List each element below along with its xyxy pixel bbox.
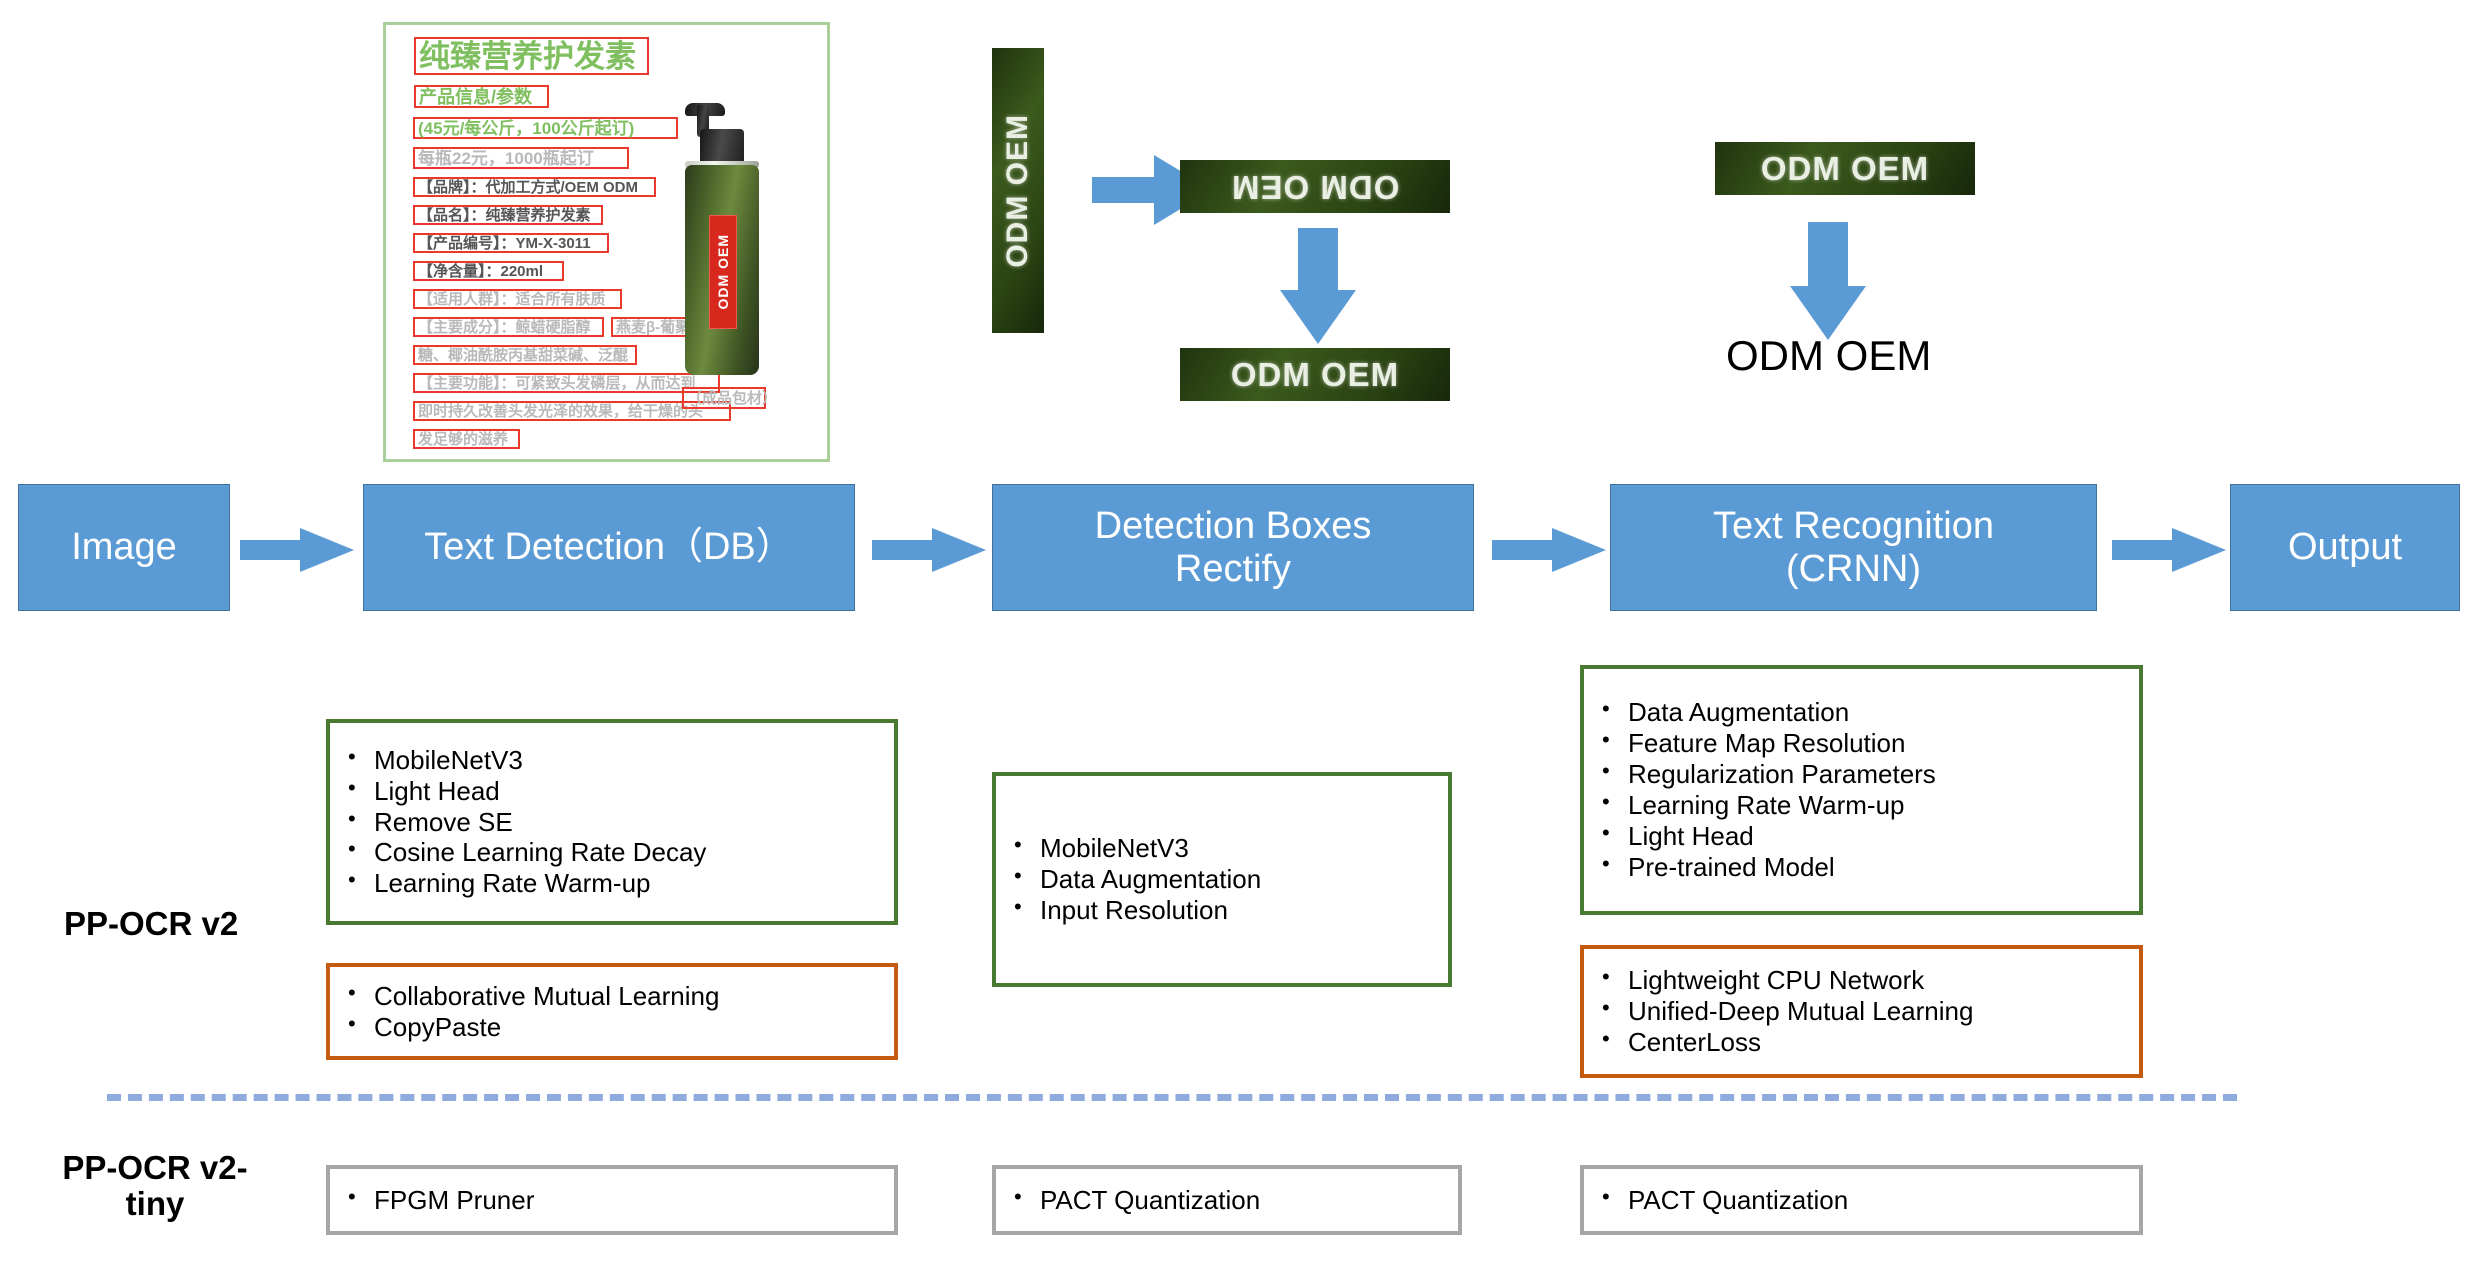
pipeline-stage-image-label: Image (71, 526, 177, 569)
ocr-detected-line: (45元/每公斤，100公斤起订) (413, 117, 678, 139)
ocr-detection-sample-panel: 纯臻营养护发素产品信息/参数(45元/每公斤，100公斤起订)每瓶22元，100… (383, 22, 830, 462)
ocr-detected-line: 糖、椰油酰胺丙基甜菜碱、泛醌 (413, 345, 637, 365)
feature-list-item: Collaborative Mutual Learning (344, 981, 894, 1012)
feature-list-item: Light Head (1598, 821, 2139, 852)
feature-list-item: Regularization Parameters (1598, 759, 2139, 790)
feature-list-detection-orange: Collaborative Mutual LearningCopyPaste (330, 981, 894, 1043)
feature-box-tiny-detection: FPGM Pruner (326, 1165, 898, 1235)
bottle-label-text: ODM OEM (715, 234, 731, 309)
feature-box-tiny-rectify: PACT Quantization (992, 1165, 1462, 1235)
feature-list-item: PACT Quantization (1598, 1185, 2139, 1216)
ocr-detected-line: 【主要成分】：鲸蜡硬脂醇 (413, 317, 604, 337)
pipeline-stage-text-recognition[interactable]: Text Recognition (CRNN) (1610, 484, 2097, 611)
rectify-source-text: ODM OEM (1001, 114, 1035, 268)
feature-list-item: MobileNetV3 (1010, 833, 1448, 864)
feature-list-detection-green: MobileNetV3Light HeadRemove SECosine Lea… (330, 745, 894, 900)
pipeline-stage-detection-boxes-rectify[interactable]: Detection Boxes Rectify (992, 484, 1474, 611)
ocr-detected-line: 每瓶22元，1000瓶起订 (413, 147, 629, 169)
feature-list-tiny-detection: FPGM Pruner (330, 1185, 894, 1216)
feature-box-detection-green: MobileNetV3Light HeadRemove SECosine Lea… (326, 719, 898, 925)
ocr-detected-line: 【适用人群】：适合所有肤质 (413, 289, 622, 309)
feature-list-item: Learning Rate Warm-up (344, 868, 894, 899)
feature-list-item: PACT Quantization (1010, 1185, 1458, 1216)
feature-list-item: Cosine Learning Rate Decay (344, 837, 894, 868)
feature-list-item: MobileNetV3 (344, 745, 894, 776)
pipeline-stage-output[interactable]: Output (2230, 484, 2460, 611)
feature-list-rectify-green: MobileNetV3Data AugmentationInput Resolu… (996, 833, 1448, 926)
feature-list-item: Unified-Deep Mutual Learning (1598, 996, 2139, 1027)
rectify-source-vertical-crop: ODM OEM (992, 48, 1044, 333)
feature-list-item: CenterLoss (1598, 1027, 2139, 1058)
section-divider (107, 1094, 2237, 1101)
feature-list-item: Input Resolution (1010, 895, 1448, 926)
recognition-input-crop: ODM OEM (1715, 142, 1975, 195)
recognition-input-text: ODM OEM (1761, 150, 1929, 188)
row-label-ppocr-v2: PP-OCR v2 (64, 906, 238, 942)
feature-box-recognition-orange: Lightweight CPU NetworkUnified-Deep Mutu… (1580, 945, 2143, 1078)
arrow-down-recognition-icon (1790, 222, 1870, 342)
product-bottle-image: ODM OEM (667, 85, 777, 375)
bottle-label: ODM OEM (709, 215, 737, 329)
feature-list-item: Pre-trained Model (1598, 852, 2139, 883)
rectify-output-crop: ODM OEM (1180, 348, 1450, 401)
feature-list-item: Lightweight CPU Network (1598, 965, 2139, 996)
feature-list-item: Data Augmentation (1010, 864, 1448, 895)
row-label-ppocr-v2-tiny: PP-OCR v2- tiny (50, 1150, 260, 1223)
arrow-right-1-icon (240, 528, 356, 570)
pipeline-stage-text-detection-label: Text Detection（DB） (424, 526, 794, 569)
pipeline-stage-rectify-label: Detection Boxes Rectify (1095, 505, 1372, 590)
rectify-rotated-crop: ODM OEM (1180, 160, 1450, 213)
pipeline-stage-text-detection[interactable]: Text Detection（DB） (363, 484, 855, 611)
feature-list-recognition-green: Data AugmentationFeature Map ResolutionR… (1584, 697, 2139, 883)
recognition-output-text: ODM OEM (1726, 332, 1931, 380)
pipeline-stage-image[interactable]: Image (18, 484, 230, 611)
ocr-line-bottle-caption: （成品包材） (682, 387, 766, 409)
ocr-detected-line: 发足够的滋养 (413, 429, 520, 449)
feature-list-item: Light Head (344, 776, 894, 807)
arrow-right-3-icon (1492, 528, 1608, 570)
ocr-detected-line: 【净含量】：220ml (413, 261, 564, 281)
feature-box-rectify-green: MobileNetV3Data AugmentationInput Resolu… (992, 772, 1452, 987)
arrow-right-4-icon (2112, 528, 2228, 570)
arrow-down-rectify-icon (1280, 228, 1360, 346)
feature-list-recognition-orange: Lightweight CPU NetworkUnified-Deep Mutu… (1584, 965, 2139, 1058)
feature-list-item: Remove SE (344, 807, 894, 838)
feature-box-detection-orange: Collaborative Mutual LearningCopyPaste (326, 963, 898, 1060)
feature-list-item: Data Augmentation (1598, 697, 2139, 728)
ocr-detected-line: 【产品编号】：YM-X-3011 (413, 233, 609, 253)
ocr-detected-line: 纯臻营养护发素 (414, 37, 649, 75)
ocr-detected-line: 产品信息/参数 (414, 85, 549, 108)
rectify-output-text: ODM OEM (1231, 356, 1399, 394)
ocr-detected-line: 【主要功能】：可紧致头发磷层，从而达到 (413, 373, 720, 393)
rectify-rotated-text: ODM OEM (1231, 168, 1399, 206)
pipeline-stage-output-label: Output (2288, 526, 2402, 569)
feature-box-recognition-green: Data AugmentationFeature Map ResolutionR… (1580, 665, 2143, 915)
feature-list-item: Feature Map Resolution (1598, 728, 2139, 759)
feature-list-item: FPGM Pruner (344, 1185, 894, 1216)
arrow-right-2-icon (872, 528, 988, 570)
feature-list-tiny-rectify: PACT Quantization (996, 1185, 1458, 1216)
pipeline-stage-recognition-label: Text Recognition (CRNN) (1713, 505, 1994, 590)
feature-list-item: CopyPaste (344, 1012, 894, 1043)
feature-box-tiny-recognition: PACT Quantization (1580, 1165, 2143, 1235)
ocr-detected-line: 【品牌】：代加工方式/OEM ODM (413, 177, 656, 197)
feature-list-item: Learning Rate Warm-up (1598, 790, 2139, 821)
ocr-detected-line: 【品名】：纯臻营养护发素 (413, 205, 603, 225)
feature-list-tiny-recognition: PACT Quantization (1584, 1185, 2139, 1216)
